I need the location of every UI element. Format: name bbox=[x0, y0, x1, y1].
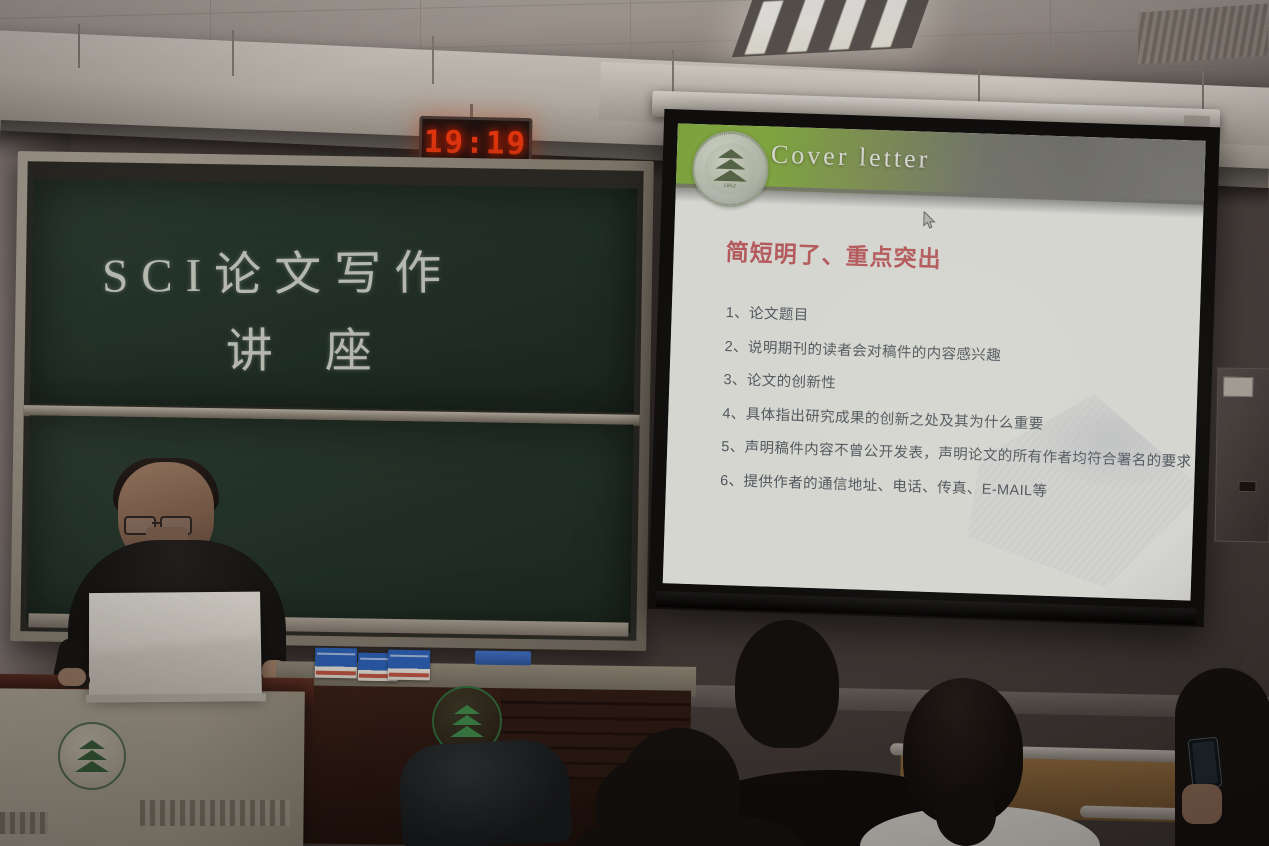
blue-tray bbox=[475, 651, 531, 666]
screen-surface: 1952 Cover letter 简短明了、重点突出 1、论文题目 2、说明期… bbox=[663, 123, 1206, 600]
phone-screen bbox=[1192, 741, 1218, 785]
hanger-wire bbox=[232, 30, 234, 76]
lecture-hall-photo: 19:19 SCI论文写作 讲座 bbox=[0, 0, 1269, 846]
slide-heading: 简短明了、重点突出 bbox=[725, 233, 942, 274]
audience-hand bbox=[1182, 784, 1222, 824]
console-university-emblem bbox=[58, 722, 126, 790]
chevron-icon bbox=[713, 170, 747, 182]
chevron-icon bbox=[79, 740, 105, 749]
air-diffuser bbox=[1138, 3, 1268, 64]
list-item: 2、说明期刊的读者会对稿件的内容感兴趣 bbox=[724, 335, 1178, 371]
audience-head bbox=[735, 620, 839, 748]
blackboard-text-line2: 讲座 bbox=[226, 312, 424, 381]
cabinet-lock-icon bbox=[1238, 481, 1256, 492]
audience-hair-bun bbox=[936, 784, 996, 846]
blue-box bbox=[388, 650, 431, 681]
console-vent bbox=[140, 800, 290, 826]
chevron-icon bbox=[75, 761, 109, 772]
laptop-screen-back bbox=[89, 592, 262, 698]
chevron-icon bbox=[715, 159, 745, 170]
glasses-bridge bbox=[152, 522, 162, 524]
seal-year: 1952 bbox=[723, 183, 736, 189]
powerpoint-slide: 1952 Cover letter 简短明了、重点突出 1、论文题目 2、说明期… bbox=[663, 123, 1206, 600]
smartphone[interactable] bbox=[1187, 737, 1222, 790]
chevron-icon bbox=[77, 750, 107, 760]
blue-box bbox=[315, 648, 358, 679]
hanger-wire bbox=[978, 62, 980, 106]
hanger-wire bbox=[78, 24, 80, 68]
laptop-hinge bbox=[86, 693, 266, 703]
list-item: 1、论文题目 bbox=[725, 301, 1179, 337]
audience-head bbox=[595, 760, 691, 846]
projection-screen: 1952 Cover letter 简短明了、重点突出 1、论文题目 2、说明期… bbox=[648, 109, 1220, 627]
clock-time: 19:19 bbox=[423, 124, 527, 162]
list-item: 3、论文的创新性 bbox=[723, 368, 1177, 404]
chevron-icon bbox=[452, 715, 482, 725]
wall-control-cabinet bbox=[1214, 368, 1269, 543]
chevron-icon bbox=[718, 149, 744, 159]
blackboard-text-line1: SCI论文写作 bbox=[102, 234, 455, 306]
cabinet-label bbox=[1223, 377, 1253, 398]
hanger-wire bbox=[432, 36, 434, 84]
hanger-wire bbox=[1202, 70, 1204, 112]
chevron-icon bbox=[454, 705, 480, 714]
console-vent bbox=[0, 812, 48, 834]
chevron-icon bbox=[450, 726, 484, 737]
slide-title: Cover letter bbox=[770, 139, 930, 174]
presenter-left-hand bbox=[58, 668, 86, 686]
blackboard-panel-top: SCI论文写作 讲座 bbox=[30, 179, 637, 412]
backpack bbox=[397, 738, 572, 846]
